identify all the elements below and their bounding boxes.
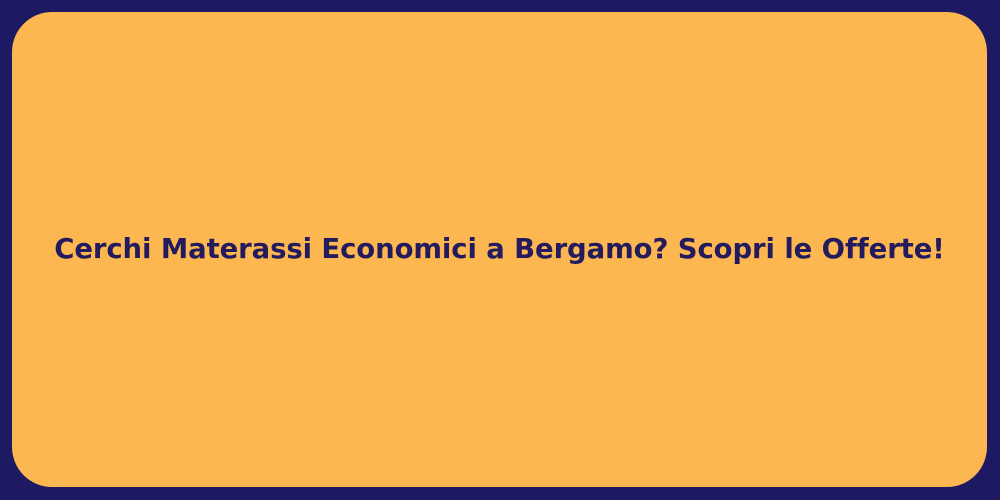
banner-heading: Cerchi Materassi Economici a Bergamo? Sc…: [54, 232, 944, 266]
banner-outer-frame: Cerchi Materassi Economici a Bergamo? Sc…: [0, 0, 1000, 500]
banner-panel: Cerchi Materassi Economici a Bergamo? Sc…: [12, 12, 987, 487]
